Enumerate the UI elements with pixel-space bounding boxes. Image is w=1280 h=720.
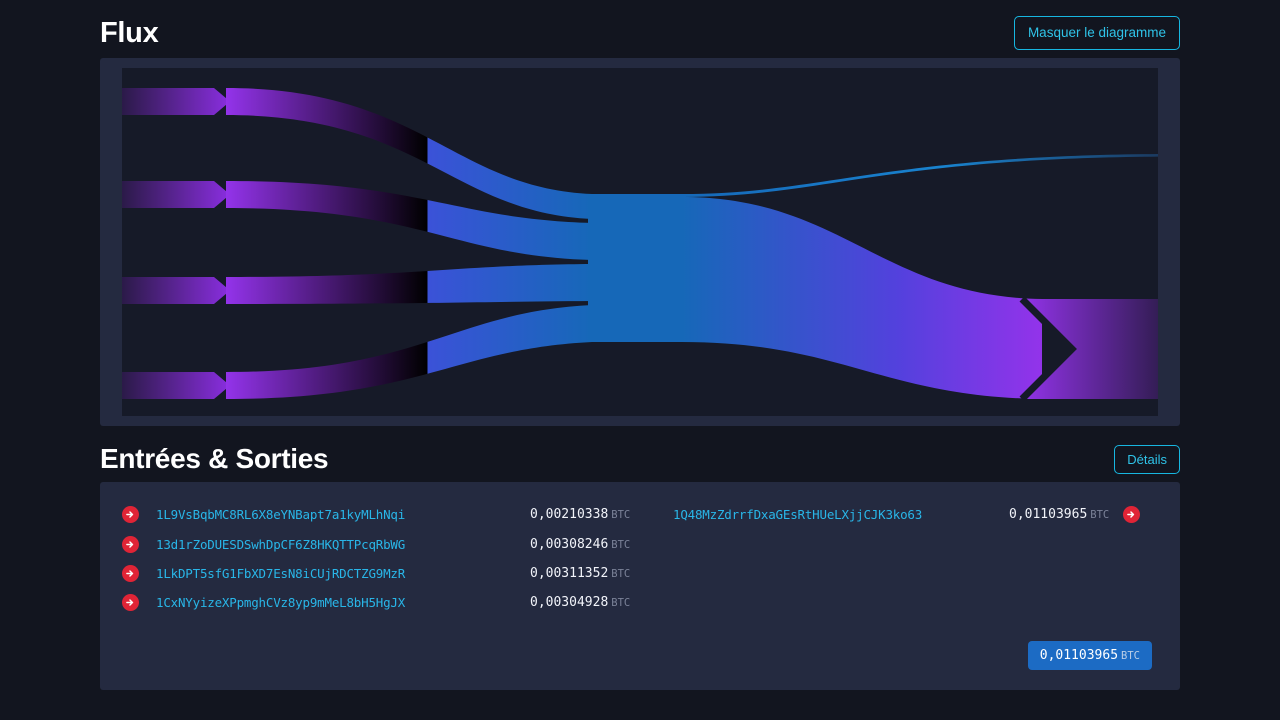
- total-output-badge: 0,01103965BTC: [1028, 641, 1152, 670]
- input-row[interactable]: 1CxNYyizeXPpmghCVz8yp9mMeL8bH5HgJX 0,003…: [122, 588, 637, 617]
- input-address[interactable]: 13d1rZoDUESDSwhDpCF6Z8HKQTTPcqRbWG: [156, 537, 405, 552]
- io-section-header: Entrées & Sorties Détails: [100, 426, 1180, 482]
- sankey-canvas[interactable]: [122, 68, 1158, 416]
- inputs-column: 1L9VsBqbMC8RL6X8eYNBapt7a1kyMLhNqi 0,002…: [122, 500, 637, 618]
- input-amount: 0,00304928BTC: [530, 595, 630, 610]
- arrow-right-circle-icon: [122, 506, 139, 523]
- sankey-target-node[interactable]: [1022, 299, 1158, 399]
- input-amount: 0,00308246BTC: [530, 537, 630, 552]
- sankey-diagram-panel: [100, 58, 1180, 426]
- total-wrapper: 0,01103965BTC: [1028, 641, 1152, 670]
- output-row[interactable]: 1Q48MzZdrrfDxaGEsRtHUeLXjjCJK3ko63 0,011…: [637, 500, 1152, 529]
- inputs-outputs-panel: 1L9VsBqbMC8RL6X8eYNBapt7a1kyMLhNqi 0,002…: [100, 482, 1180, 690]
- transaction-flow-page: Flux Masquer le diagramme: [0, 0, 1280, 720]
- arrow-right-circle-icon: [122, 594, 139, 611]
- arrow-right-circle-icon: [1123, 506, 1140, 523]
- sankey-source-nodes: [122, 88, 230, 399]
- sankey-output-link[interactable]: [682, 197, 1042, 399]
- toggle-diagram-button[interactable]: Masquer le diagramme: [1014, 16, 1180, 50]
- io-title: Entrées & Sorties: [100, 443, 328, 475]
- input-row[interactable]: 1L9VsBqbMC8RL6X8eYNBapt7a1kyMLhNqi 0,002…: [122, 500, 637, 529]
- input-address[interactable]: 1LkDPT5sfG1FbXD7EsN8iCUjRDCTZG9MzR: [156, 566, 405, 581]
- output-address[interactable]: 1Q48MzZdrrfDxaGEsRtHUeLXjjCJK3ko63: [673, 507, 922, 522]
- arrow-right-circle-icon: [122, 565, 139, 582]
- details-button[interactable]: Détails: [1114, 445, 1180, 474]
- sankey-fee-link[interactable]: [682, 154, 1158, 197]
- input-address[interactable]: 1L9VsBqbMC8RL6X8eYNBapt7a1kyMLhNqi: [156, 507, 405, 522]
- sankey-transaction-node[interactable]: [588, 194, 686, 342]
- input-amount: 0,00210338BTC: [530, 507, 630, 522]
- sankey-input-links[interactable]: [226, 88, 592, 399]
- input-address[interactable]: 1CxNYyizeXPpmghCVz8yp9mMeL8bH5HgJX: [156, 595, 405, 610]
- input-row[interactable]: 13d1rZoDUESDSwhDpCF6Z8HKQTTPcqRbWG 0,003…: [122, 529, 637, 558]
- page-title: Flux: [100, 17, 158, 50]
- output-amount: 0,01103965BTC: [1009, 507, 1109, 522]
- input-row[interactable]: 1LkDPT5sfG1FbXD7EsN8iCUjRDCTZG9MzR 0,003…: [122, 559, 637, 588]
- input-amount: 0,00311352BTC: [530, 566, 630, 581]
- outputs-column: 1Q48MzZdrrfDxaGEsRtHUeLXjjCJK3ko63 0,011…: [637, 500, 1152, 618]
- sankey-svg: [122, 68, 1158, 416]
- arrow-right-circle-icon: [122, 536, 139, 553]
- flux-section-header: Flux Masquer le diagramme: [100, 0, 1180, 58]
